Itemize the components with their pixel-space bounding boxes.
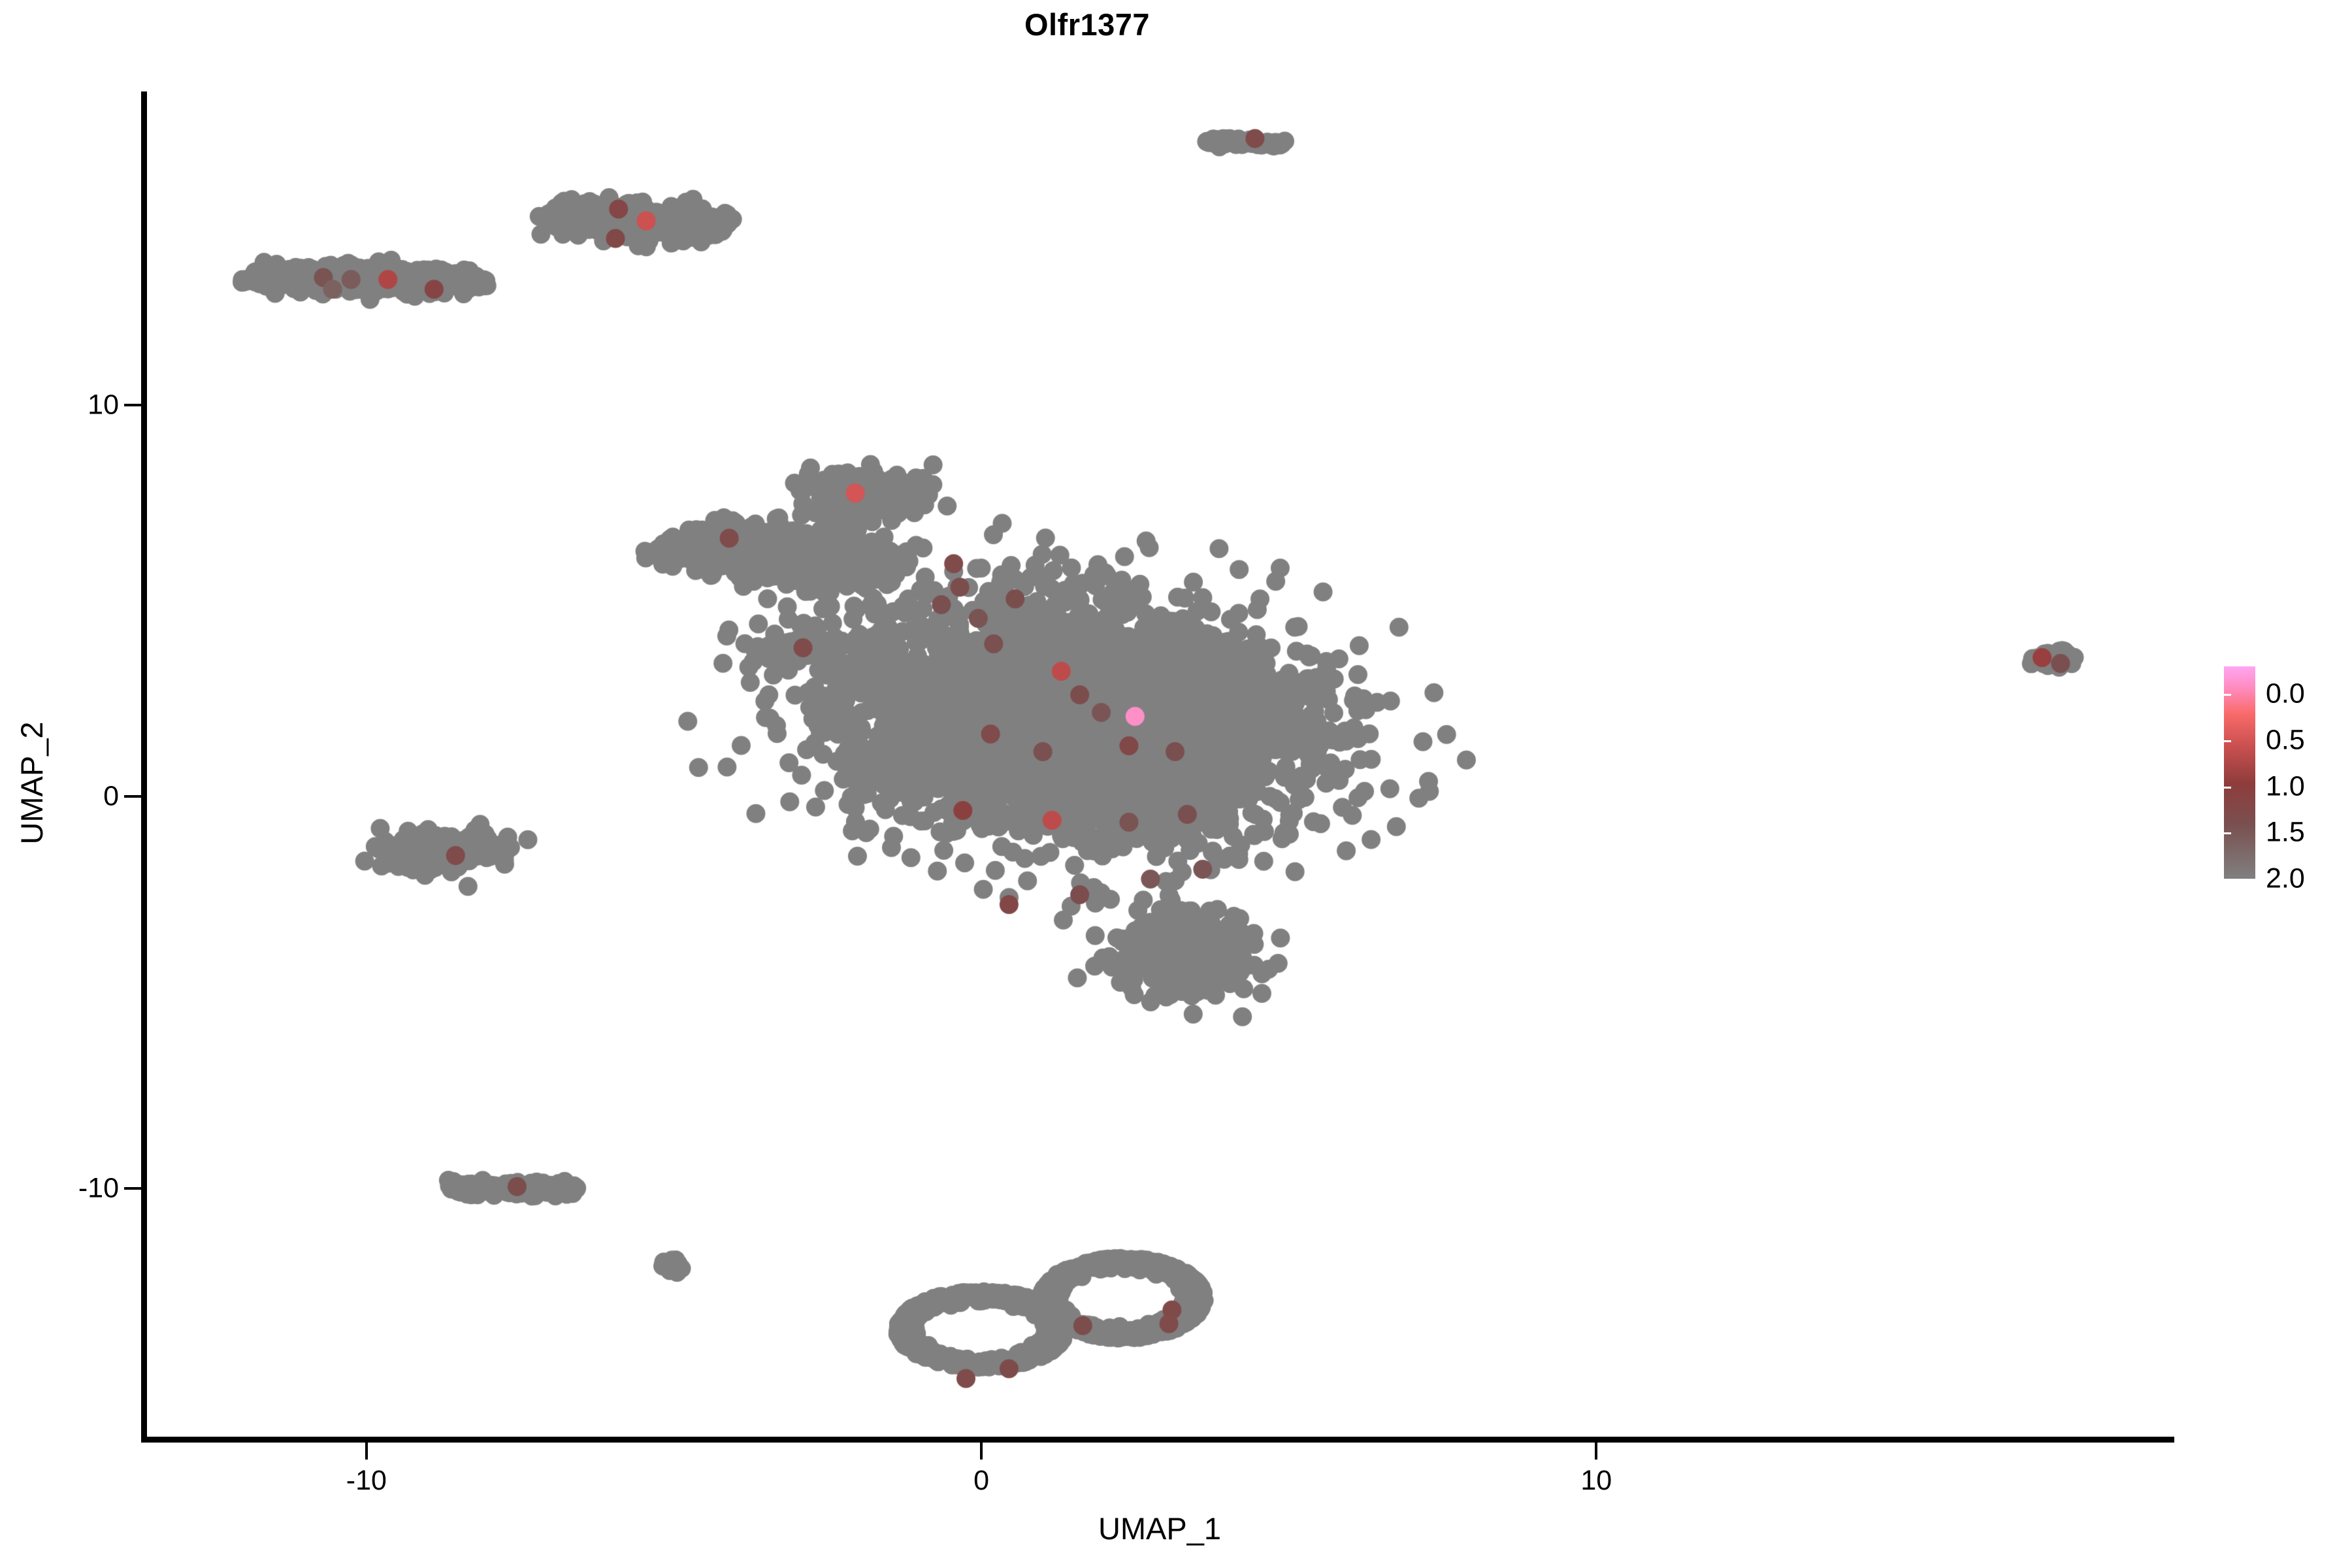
y-tick-label: 10 (88, 389, 119, 421)
colorbar-tick-mark (2224, 832, 2231, 834)
x-axis-line (141, 1437, 2174, 1443)
colorbar-tick-mark (2224, 694, 2231, 696)
x-axis-label: UMAP_1 (145, 1511, 2174, 1546)
plot-panel (145, 91, 2174, 1439)
colorbar-tick-label: 1.5 (2266, 817, 2305, 849)
x-tick-label: 0 (973, 1465, 989, 1497)
colorbar-tick-mark (2224, 879, 2231, 881)
x-tick-mark (980, 1443, 983, 1460)
umap-feature-plot: Olfr1377 -10010 100-10 UMAP_1 UMAP_2 2.0… (0, 0, 2352, 1568)
y-axis-line (141, 91, 147, 1443)
colorbar-tick-mark (2224, 740, 2231, 742)
y-tick-label: -10 (78, 1173, 119, 1205)
colorbar-tick-mark (2224, 787, 2231, 789)
colorbar-tick-mark (2334, 832, 2342, 834)
colorbar-tick-mark (2334, 694, 2342, 696)
colorbar-legend: 2.01.51.00.50.0 (2224, 666, 2342, 889)
scatter-plot-canvas (145, 91, 2174, 1439)
y-axis-label: UMAP_2 (14, 109, 50, 1457)
y-tick-mark (124, 795, 141, 798)
x-tick-mark (365, 1443, 368, 1460)
x-tick-label: 10 (1580, 1465, 1612, 1497)
x-tick-mark (1595, 1443, 1597, 1460)
colorbar-gradient (2224, 666, 2255, 879)
colorbar-tick-label: 0.5 (2266, 725, 2305, 757)
page-title: Olfr1377 (0, 7, 2174, 42)
y-tick-mark (124, 1187, 141, 1190)
colorbar-tick-label: 2.0 (2266, 863, 2305, 895)
colorbar-tick-mark (2334, 879, 2342, 881)
colorbar-tick-mark (2334, 740, 2342, 742)
x-tick-label: -10 (346, 1465, 387, 1497)
colorbar-tick-mark (2334, 787, 2342, 789)
colorbar-tick-label: 1.0 (2266, 770, 2305, 802)
colorbar-gradient-fill (2224, 666, 2255, 879)
colorbar-tick-label: 0.0 (2266, 678, 2305, 710)
y-tick-label: 0 (103, 781, 119, 813)
y-tick-mark (124, 404, 141, 406)
